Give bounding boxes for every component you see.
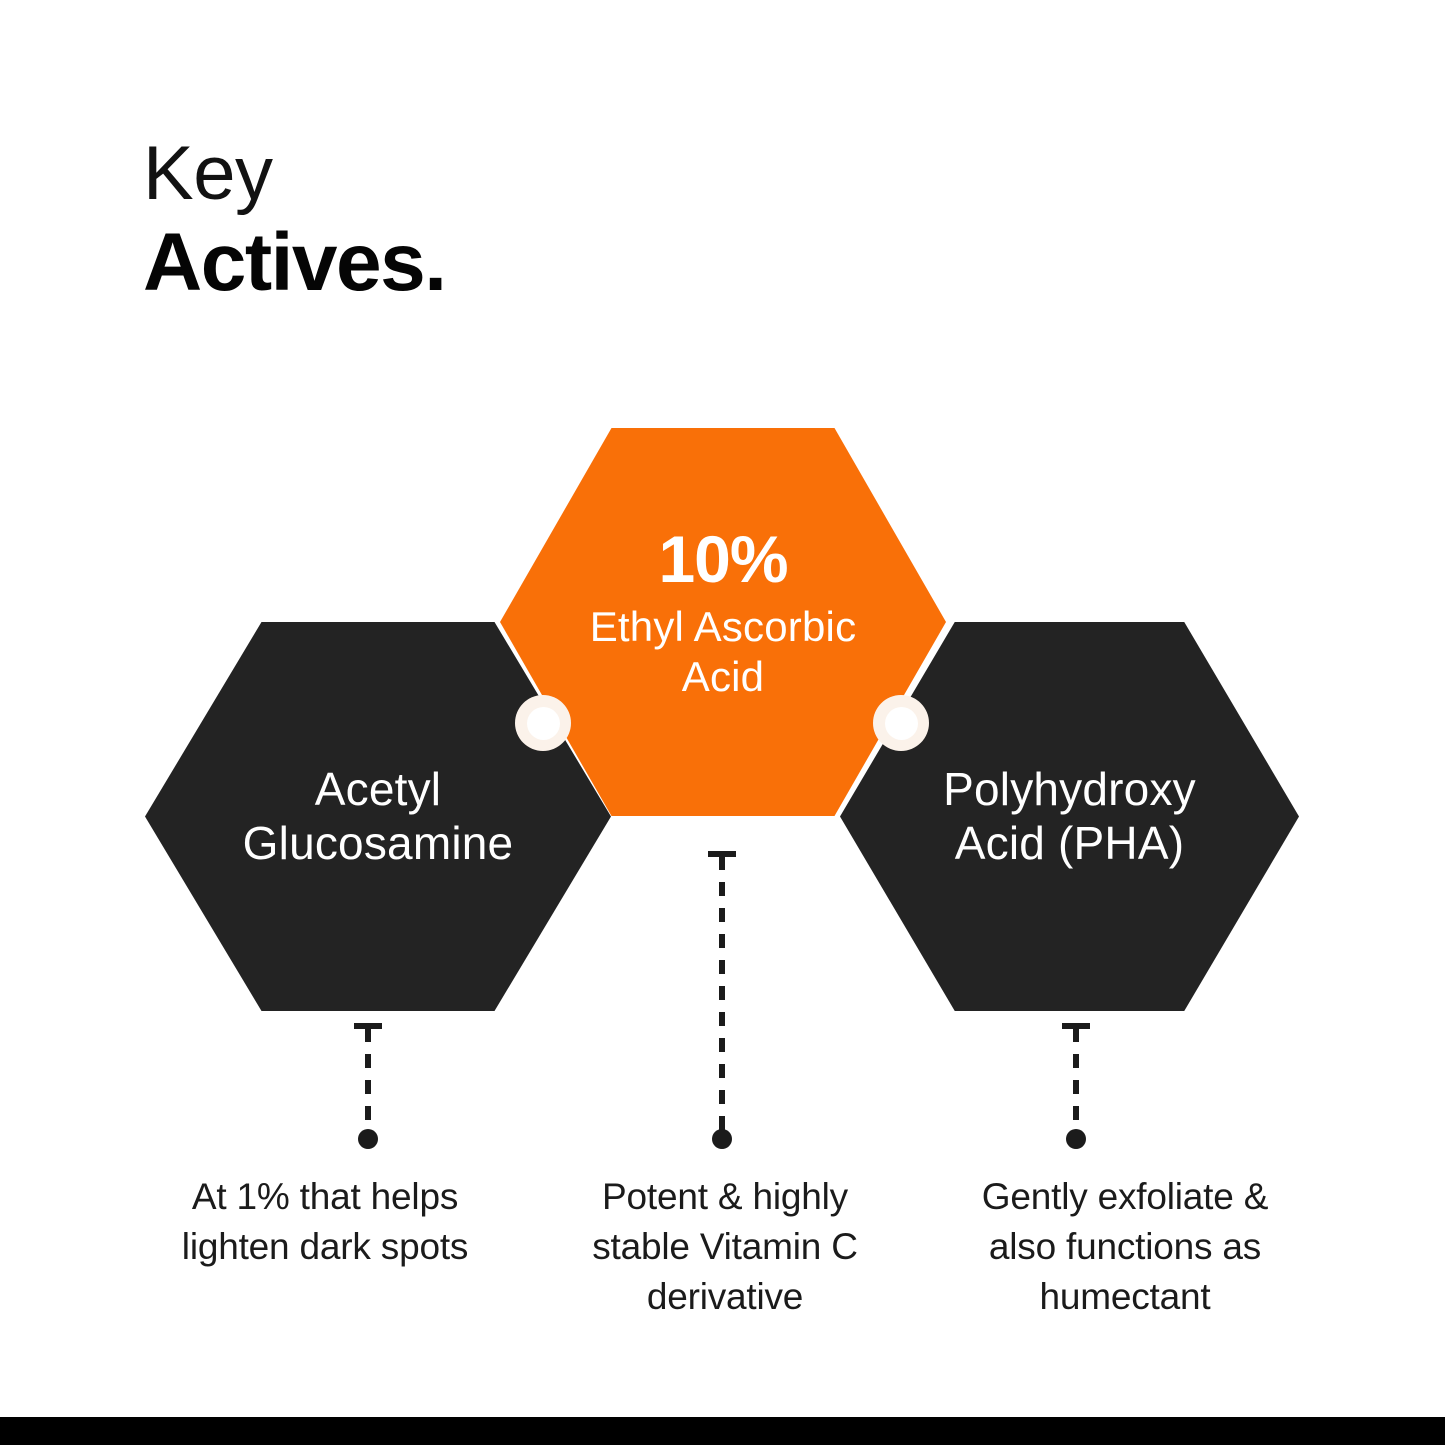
leader-cap-icon: [354, 1023, 382, 1029]
hexagon-label-line-2: Acid (PHA): [943, 817, 1196, 871]
leader-cap-icon: [708, 851, 736, 857]
caption-acetyl-glucosamine: At 1% that helps lighten dark spots: [155, 1172, 495, 1322]
leader-line-polyhydroxy-acid: [1073, 1028, 1079, 1130]
leader-dot-icon: [358, 1129, 378, 1149]
caption-polyhydroxy-acid: Gently exfoliate & also functions as hum…: [955, 1172, 1295, 1322]
hexagon-connector-knob-left: [515, 695, 571, 751]
leader-dot-icon: [712, 1129, 732, 1149]
hexagon-label-line-1: Acetyl: [243, 763, 514, 817]
leader-line-acetyl-glucosamine: [365, 1028, 371, 1130]
caption-ethyl-ascorbic-acid: Potent & highly stable Vitamin C derivat…: [555, 1172, 895, 1322]
hexagon-label-line-2: Glucosamine: [243, 817, 514, 871]
leader-line-ethyl-ascorbic-acid: [719, 856, 725, 1130]
hexagon-label-ethyl-ascorbic-acid: 10% Ethyl Ascorbic Acid: [572, 526, 875, 701]
hexagon-label-line-1: Ethyl Ascorbic: [590, 602, 857, 652]
hexagon-connector-knob-right: [873, 695, 929, 751]
hexagon-label-line-1: Polyhydroxy: [943, 763, 1196, 817]
bottom-bar: [0, 1417, 1445, 1445]
hexagon-label-acetyl-glucosamine: Acetyl Glucosamine: [217, 763, 540, 871]
leader-cap-icon: [1062, 1023, 1090, 1029]
hexagon-percent-value: 10%: [658, 526, 787, 592]
hexagon-label-line-2: Acid: [682, 652, 765, 702]
caption-row: At 1% that helps lighten dark spots Pote…: [155, 1172, 1295, 1322]
infographic-canvas: Key Actives. Acetyl Glucosamine Polyhydr…: [0, 0, 1445, 1445]
leader-dot-icon: [1066, 1129, 1086, 1149]
hexagon-label-polyhydroxy-acid: Polyhydroxy Acid (PHA): [917, 763, 1222, 871]
